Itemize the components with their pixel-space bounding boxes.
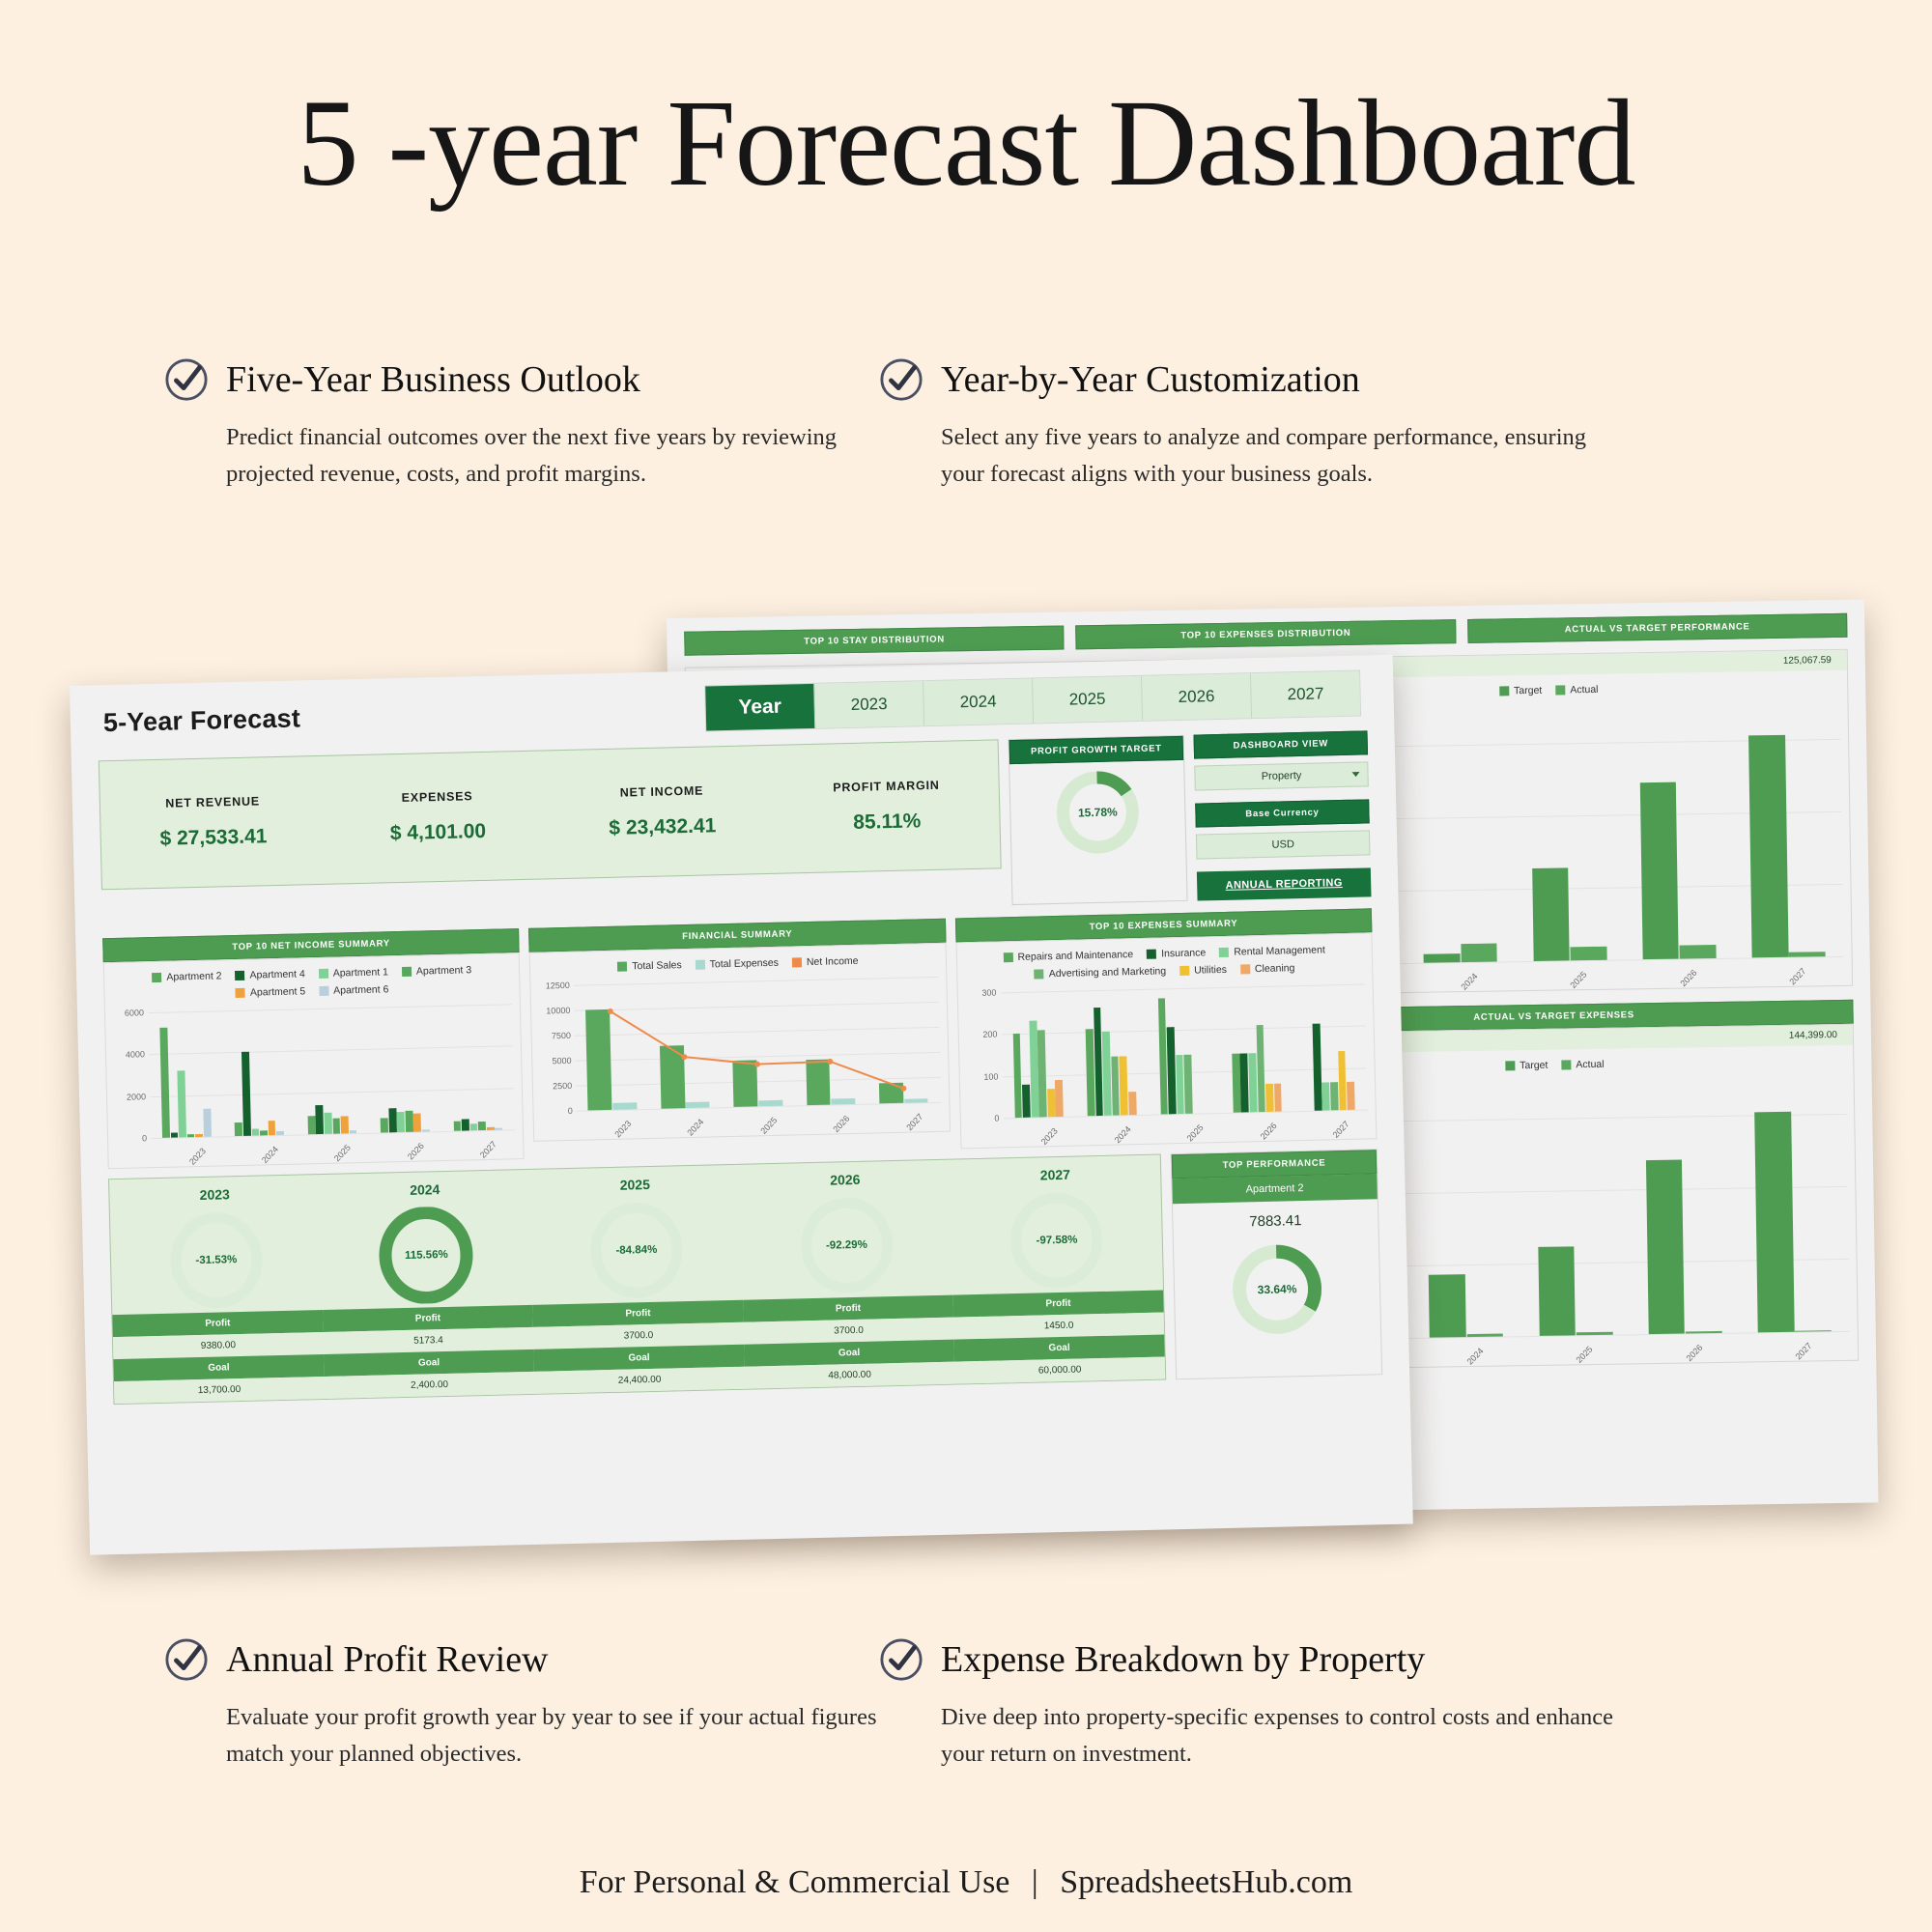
- bar: [260, 1130, 268, 1136]
- legend-item: Apartment 2: [152, 970, 221, 983]
- bar: [1789, 952, 1826, 957]
- annual-profit-donuts: 2023-31.53%2024115.56%2025-84.84%2026-92…: [109, 1155, 1163, 1316]
- kpi-label: EXPENSES: [402, 789, 473, 805]
- annual-profit-donut-cell: 2027-97.58%: [950, 1155, 1163, 1295]
- bar: [1347, 1081, 1354, 1110]
- bar: [1047, 1089, 1055, 1118]
- x-axis-tick: 2025: [332, 1143, 353, 1163]
- legend-item: Target: [1499, 685, 1542, 697]
- legend-swatch: [1147, 950, 1156, 959]
- bar: [203, 1108, 211, 1136]
- bar: [1680, 945, 1717, 958]
- bar: [1037, 1030, 1047, 1117]
- x-axis-tick: 2027: [1787, 966, 1807, 986]
- legend-label: Rental Management: [1234, 944, 1325, 957]
- check-circle-icon: [164, 1637, 209, 1682]
- x-axis-tick: 2027: [1331, 1120, 1351, 1140]
- net-income-summary-chart: 020004000600020232024202520262027: [105, 996, 524, 1168]
- year-tab-2024[interactable]: 2024: [923, 679, 1034, 726]
- legend-swatch: [1499, 686, 1509, 696]
- bar: [1012, 1034, 1022, 1118]
- legend-swatch: [1035, 969, 1044, 979]
- bar: [388, 1108, 396, 1132]
- bar: [1461, 943, 1497, 962]
- donut-percent: -97.58%: [1036, 1235, 1077, 1247]
- check-circle-icon: [879, 1637, 923, 1682]
- x-axis-tick: 2023: [1039, 1126, 1060, 1147]
- footer-site-link[interactable]: SpreadsheetsHub.com: [1060, 1864, 1352, 1900]
- legend-item: Apartment 6: [319, 983, 388, 997]
- donut-percent: -84.84%: [615, 1244, 657, 1257]
- x-axis-tick: 2024: [1465, 1346, 1486, 1366]
- x-axis-tick: 2027: [1793, 1341, 1813, 1361]
- year-tab-2025[interactable]: 2025: [1033, 676, 1143, 724]
- kpi-card-group: NET REVENUE $ 27,533.41 EXPENSES $ 4,101…: [99, 739, 1002, 890]
- bar: [1640, 782, 1680, 959]
- donut-year: 2025: [620, 1177, 651, 1193]
- bar: [1429, 1274, 1466, 1338]
- legend-swatch: [1179, 966, 1189, 976]
- bar: [453, 1121, 461, 1131]
- legend-label: Advertising and Marketing: [1049, 965, 1167, 980]
- dashboard-view-select[interactable]: Property: [1194, 761, 1369, 790]
- kpi-label: NET INCOME: [620, 784, 704, 800]
- check-circle-icon: [879, 357, 923, 402]
- bar: [171, 1133, 179, 1138]
- legend-swatch: [696, 960, 705, 970]
- bar: [1167, 1027, 1177, 1114]
- bar: [1532, 868, 1570, 961]
- year-tab-2026[interactable]: 2026: [1142, 673, 1252, 721]
- feature-title: Year-by-Year Customization: [941, 358, 1360, 401]
- base-currency-value[interactable]: USD: [1196, 830, 1371, 859]
- x-axis-tick: 2026: [1684, 1343, 1704, 1363]
- annual-profit-donut-cell: 2024115.56%: [320, 1170, 533, 1310]
- bar: [241, 1052, 251, 1136]
- legend-swatch: [319, 969, 328, 979]
- legend-swatch: [236, 988, 245, 998]
- legend-swatch: [402, 967, 412, 977]
- legend-item: Repairs and Maintenance: [1003, 949, 1133, 963]
- legend-swatch: [235, 971, 244, 980]
- bar: [268, 1121, 275, 1135]
- feature-block-expense-breakdown-by-property: Expense Breakdown by Property Dive deep …: [879, 1637, 1613, 1773]
- kpi-expenses: EXPENSES $ 4,101.00: [324, 751, 552, 883]
- bar: [332, 1118, 340, 1134]
- bar: [405, 1111, 412, 1132]
- legend-swatch: [1505, 1061, 1515, 1070]
- legend-label: Repairs and Maintenance: [1017, 949, 1133, 963]
- donut-percent: 115.56%: [405, 1249, 448, 1262]
- year-tab-2023[interactable]: 2023: [814, 681, 924, 728]
- footer-left-text: For Personal & Commercial Use: [580, 1864, 1010, 1900]
- kpi-value: $ 23,432.41: [609, 814, 716, 840]
- top-performance-panel: TOP PERFORMANCE Apartment 2 7883.41 33.6…: [1171, 1149, 1382, 1379]
- legend-swatch: [1561, 1060, 1571, 1069]
- grid-line: [1000, 984, 1364, 994]
- annual-profit-panel: 2023-31.53%2024115.56%2025-84.84%2026-92…: [108, 1154, 1166, 1406]
- net-income-summary-panel: TOP 10 NET INCOME SUMMARY Apartment 2Apa…: [102, 928, 525, 1169]
- y-axis-tick: 300: [957, 987, 996, 998]
- feature-title: Annual Profit Review: [226, 1638, 549, 1681]
- bar: [487, 1127, 495, 1130]
- grid-line: [150, 1088, 514, 1097]
- kpi-value: $ 4,101.00: [390, 820, 487, 845]
- bar: [1312, 1023, 1321, 1110]
- kpi-profit-margin: PROFIT MARGIN 85.11%: [773, 740, 1001, 872]
- grid-line: [1001, 1026, 1365, 1036]
- legend-item: Cleaning: [1240, 962, 1295, 975]
- bar: [1055, 1080, 1064, 1117]
- donut-year: 2023: [199, 1186, 230, 1203]
- legend-swatch: [319, 986, 328, 996]
- x-axis-tick: 2026: [406, 1141, 426, 1161]
- bar: [462, 1119, 469, 1130]
- legend-item: Advertising and Marketing: [1035, 965, 1167, 980]
- profit-growth-target-card: PROFIT GROWTH TARGET 15.78%: [1009, 735, 1188, 905]
- footer: For Personal & Commercial Use | Spreadsh…: [0, 1864, 1932, 1901]
- annual-profit-donut-cell: 2023-31.53%: [109, 1175, 323, 1315]
- bar: [187, 1134, 195, 1137]
- feature-body: Dive deep into property-specific expense…: [941, 1699, 1613, 1773]
- net-income-line: [531, 969, 950, 1141]
- bar: [341, 1117, 349, 1134]
- top-performance-donut: 33.64%: [1226, 1238, 1328, 1341]
- feature-body: Predict financial outcomes over the next…: [226, 419, 898, 493]
- profit-growth-target-donut: 15.78%: [1050, 765, 1145, 860]
- annual-profit-row: 2023-31.53%2024115.56%2025-84.84%2026-92…: [81, 1139, 1409, 1406]
- legend-item: Actual: [1561, 1059, 1604, 1071]
- bar: [1120, 1057, 1128, 1116]
- bar: [195, 1134, 203, 1137]
- bar: [178, 1070, 186, 1137]
- y-axis-tick: 200: [958, 1030, 997, 1040]
- legend-item: Net Income: [792, 955, 859, 969]
- bar: [1321, 1082, 1329, 1111]
- legend-label: Apartment 4: [249, 968, 304, 980]
- dashboard-view-value: Property: [1262, 770, 1302, 782]
- annual-profit-donut-cell: 2026-92.29%: [740, 1160, 953, 1300]
- legend-swatch: [617, 961, 627, 971]
- bar: [1274, 1083, 1282, 1112]
- profit-growth-target-value: 15.78%: [1050, 765, 1145, 860]
- base-currency-title: Base Currency: [1195, 799, 1370, 827]
- goal-value-cell: 24,400.00: [534, 1367, 745, 1394]
- legend-item: Total Sales: [617, 959, 682, 973]
- bar: [1754, 1111, 1794, 1332]
- bar: [1570, 947, 1606, 960]
- annual-reporting-button[interactable]: ANNUAL REPORTING: [1197, 867, 1372, 900]
- bar: [1748, 735, 1788, 958]
- bar: [159, 1028, 169, 1138]
- bar: [1338, 1051, 1347, 1110]
- annual-profit-donut-cell: 2025-84.84%: [529, 1165, 743, 1305]
- x-axis-tick: 2025: [1569, 970, 1589, 990]
- legend-swatch: [1555, 685, 1565, 695]
- performance-value: 125,067.59: [1783, 655, 1832, 667]
- bar: [1467, 1334, 1504, 1338]
- bar: [324, 1113, 331, 1134]
- chart-row: TOP 10 NET INCOME SUMMARY Apartment 2Apa…: [75, 896, 1405, 1170]
- legend-label: Target: [1514, 685, 1542, 696]
- feature-title: Five-Year Business Outlook: [226, 358, 640, 401]
- bar: [307, 1116, 315, 1134]
- legend-swatch: [1219, 948, 1229, 957]
- bar: [397, 1112, 405, 1132]
- legend-label: Total Sales: [632, 959, 682, 972]
- bar: [251, 1129, 259, 1136]
- kpi-label: PROFIT MARGIN: [833, 779, 940, 795]
- expenses-value: 144,399.00: [1789, 1030, 1837, 1041]
- kpi-label: NET REVENUE: [165, 794, 260, 810]
- bar: [1265, 1083, 1273, 1112]
- legend-label: Apartment 5: [250, 985, 305, 998]
- forecast-dashboard-window[interactable]: 5-Year Forecast Year 2023 2024 2025 2026…: [70, 655, 1413, 1555]
- financial-summary-chart: 0250050007500100001250020232024202520262…: [531, 969, 950, 1141]
- legend-item: Apartment 5: [236, 985, 305, 999]
- grid-line: [148, 1004, 512, 1013]
- year-selector[interactable]: Year 2023 2024 2025 2026 2027: [704, 670, 1361, 732]
- year-tab-2027[interactable]: 2027: [1251, 671, 1360, 719]
- bar: [1128, 1092, 1136, 1115]
- legend-item: Total Expenses: [696, 957, 779, 971]
- year-selector-label: Year: [705, 684, 815, 731]
- bar: [470, 1123, 478, 1131]
- kpi-net-revenue: NET REVENUE $ 27,533.41: [99, 756, 327, 889]
- legend-swatch: [152, 973, 161, 982]
- legend-label: Target: [1520, 1060, 1548, 1071]
- legend-swatch: [1240, 964, 1250, 974]
- legend-label: Actual: [1570, 684, 1598, 696]
- legend-item: Target: [1505, 1060, 1548, 1072]
- donut-year: 2024: [410, 1181, 440, 1198]
- financial-summary-panel: FINANCIAL SUMMARY Total SalesTotal Expen…: [528, 919, 951, 1159]
- check-circle-icon: [164, 357, 209, 402]
- legend-item: Apartment 4: [235, 968, 304, 981]
- y-axis-tick: 6000: [105, 1008, 144, 1018]
- bar: [1330, 1082, 1338, 1111]
- legend-swatch: [792, 957, 802, 967]
- donut-percent: -92.29%: [826, 1239, 867, 1252]
- donut-percent: -31.53%: [195, 1254, 237, 1266]
- x-axis-tick: 2024: [1112, 1124, 1132, 1145]
- bar: [1646, 1160, 1686, 1334]
- x-axis-tick: 2026: [1258, 1121, 1278, 1141]
- top-performance-value: 7883.41: [1173, 1199, 1378, 1237]
- x-axis-tick: 2024: [260, 1145, 280, 1165]
- legend-label: Actual: [1576, 1059, 1604, 1070]
- legend-item: Apartment 1: [319, 966, 388, 980]
- x-axis-tick: 2027: [478, 1139, 498, 1159]
- x-axis-tick: 2024: [1460, 971, 1480, 991]
- legend-label: Total Expenses: [710, 957, 779, 971]
- expenses-summary-chart: 010020030020232024202520262027: [957, 976, 1376, 1148]
- feature-body: Select any five years to analyze and com…: [941, 419, 1613, 493]
- feature-block-five-year-business-outlook: Five-Year Business Outlook Predict finan…: [164, 357, 898, 493]
- x-axis-tick: 2025: [1185, 1122, 1206, 1143]
- legend-item: Rental Management: [1219, 944, 1325, 958]
- bar: [1183, 1055, 1192, 1114]
- bar: [422, 1129, 430, 1132]
- bar: [381, 1118, 388, 1132]
- legend-label: Utilities: [1194, 964, 1227, 977]
- kpi-value: $ 27,533.41: [159, 825, 267, 851]
- y-axis-tick: 0: [108, 1133, 147, 1144]
- y-axis-tick: 4000: [106, 1050, 145, 1061]
- bar: [276, 1131, 284, 1136]
- legend-item: Utilities: [1179, 964, 1227, 977]
- bar: [235, 1122, 242, 1136]
- legend-label: Apartment 6: [333, 983, 388, 996]
- dashboard-view-title: DASHBOARD VIEW: [1194, 730, 1369, 758]
- x-axis-tick: 2025: [1575, 1345, 1595, 1365]
- bar: [1256, 1025, 1265, 1112]
- legend-label: Apartment 2: [166, 970, 221, 982]
- legend-swatch: [1003, 952, 1012, 962]
- x-axis-tick: 2023: [187, 1146, 208, 1166]
- bar: [350, 1131, 357, 1134]
- bar: [1094, 1008, 1103, 1116]
- bar: [1102, 1032, 1112, 1116]
- donut-year: 2027: [1040, 1167, 1071, 1183]
- legend-item: Actual: [1555, 684, 1598, 696]
- top-performance-percent: 33.64%: [1226, 1238, 1328, 1341]
- kpi-net-income: NET INCOME $ 23,432.41: [549, 746, 777, 878]
- feature-title: Expense Breakdown by Property: [941, 1638, 1425, 1681]
- x-axis-tick: 2026: [1678, 968, 1698, 988]
- bar: [1424, 953, 1461, 963]
- y-axis-tick: 100: [959, 1071, 998, 1082]
- bar: [1022, 1085, 1031, 1118]
- bar: [1538, 1247, 1576, 1336]
- dashboard-controls: DASHBOARD VIEW Property Base Currency US…: [1194, 730, 1372, 900]
- kpi-row: NET REVENUE $ 27,533.41 EXPENSES $ 4,101…: [71, 730, 1399, 927]
- goal-value-cell: 48,000.00: [745, 1362, 955, 1389]
- legend-item: Apartment 3: [402, 964, 471, 978]
- goal-value-cell: 13,700.00: [114, 1377, 325, 1404]
- y-axis-tick: 0: [960, 1113, 999, 1123]
- legend-label: Apartment 3: [416, 964, 471, 977]
- legend-label: Cleaning: [1255, 962, 1295, 975]
- bar: [478, 1122, 486, 1130]
- dashboard-title: 5-Year Forecast: [103, 703, 301, 738]
- bar: [413, 1113, 421, 1132]
- legend-item: Insurance: [1147, 947, 1206, 959]
- footer-separator: |: [1032, 1864, 1038, 1900]
- feature-block-annual-profit-review: Annual Profit Review Evaluate your profi…: [164, 1637, 898, 1773]
- bar: [316, 1105, 324, 1134]
- legend-label: Insurance: [1161, 947, 1206, 959]
- legend-label: Net Income: [807, 955, 859, 968]
- grid-line: [149, 1046, 513, 1056]
- goal-value-cell: 60,000.00: [954, 1356, 1165, 1383]
- expenses-summary-panel: TOP 10 EXPENSES SUMMARY Repairs and Main…: [955, 908, 1378, 1149]
- chevron-down-icon: [1351, 772, 1359, 777]
- kpi-value: 85.11%: [853, 810, 922, 835]
- donut-year: 2026: [830, 1172, 861, 1188]
- goal-value-cell: 2,400.00: [325, 1372, 535, 1399]
- y-axis-tick: 2000: [107, 1092, 146, 1102]
- bar: [495, 1128, 502, 1130]
- legend-label: Apartment 1: [333, 966, 388, 979]
- feature-block-year-by-year-customization: Year-by-Year Customization Select any fi…: [879, 357, 1613, 493]
- feature-body: Evaluate your profit growth year by year…: [226, 1699, 898, 1773]
- page-title: 5 -year Forecast Dashboard: [0, 72, 1932, 214]
